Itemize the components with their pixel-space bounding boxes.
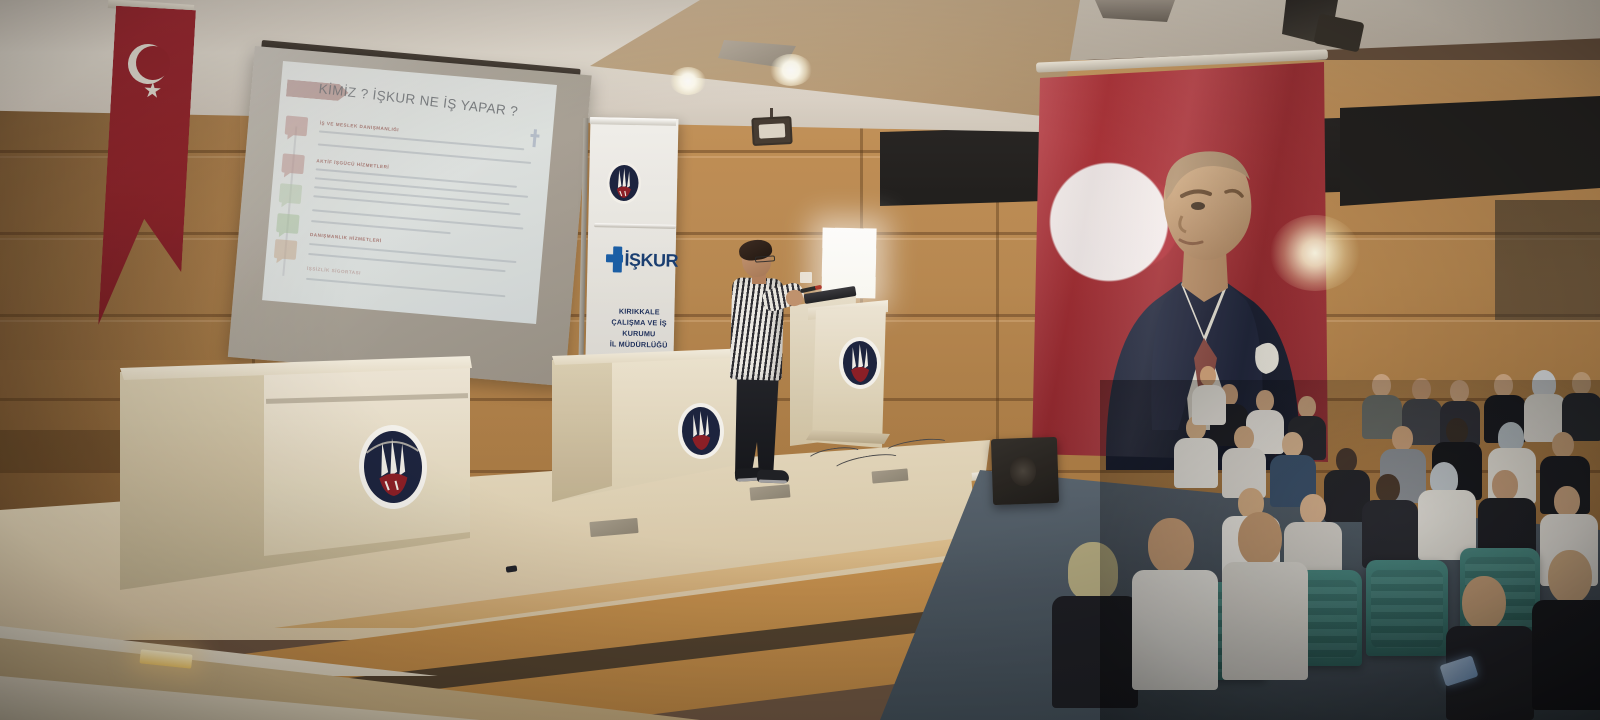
iskur-mark-icon <box>606 246 622 272</box>
institution-emblem-icon <box>606 160 643 207</box>
audience-area <box>1130 370 1600 720</box>
auditorium-photo: KİMİZ ? İŞKUR NE İŞ YAPAR ? İŞ VE MESLEK… <box>0 0 1600 720</box>
slide-section-label: İŞSİZLİK SİGORTASI <box>307 266 361 276</box>
slide-corner-mark-icon <box>529 129 543 148</box>
slide-section-label: AKTİF İŞGÜCÜ HİZMETLERİ <box>316 158 389 169</box>
ceiling-speaker-icon <box>751 116 792 146</box>
institution-emblem-icon <box>838 336 883 391</box>
banner-line-dept: İL MÜDÜRLÜĞÜ <box>596 339 682 352</box>
banner-line-org: ÇALIŞMA VE İŞ KURUMU <box>596 316 682 340</box>
slide-text-line <box>316 168 517 188</box>
slide-bullet-icon <box>279 183 303 204</box>
iskur-logo: İŞKUR <box>606 243 679 277</box>
wall-recess <box>1495 200 1600 320</box>
banner-office-text: KIRIKKALE ÇALIŞMA VE İŞ KURUMU İL MÜDÜRL… <box>596 305 683 351</box>
slide-canvas: KİMİZ ? İŞKUR NE İŞ YAPAR ? İŞ VE MESLEK… <box>262 61 557 324</box>
presenter-shoe <box>757 469 789 483</box>
slide-bullet-icon <box>285 115 309 136</box>
ceiling-downlight-icon <box>770 54 812 86</box>
acoustic-panel-right <box>1340 96 1600 206</box>
institution-emblem-icon <box>356 423 431 511</box>
slide-section-label: DANIŞMANLIK HİZMETLERİ <box>310 232 382 243</box>
slide-bullet-icon <box>274 239 298 260</box>
lamp-glare <box>1270 215 1360 291</box>
mid-desk-side <box>552 356 612 502</box>
institution-emblem-icon <box>676 401 726 461</box>
slide-bullet-icon <box>276 213 300 234</box>
slide-bullet-icon <box>281 153 305 174</box>
slide-title: KİMİZ ? İŞKUR NE İŞ YAPAR ? <box>318 81 548 122</box>
subwoofer-speaker <box>991 437 1059 505</box>
slide-text-line <box>306 278 505 298</box>
slide-text-line <box>314 186 509 205</box>
ceiling-downlight-icon <box>670 67 706 95</box>
slide-text-line <box>309 243 516 263</box>
slide-text-line <box>311 220 451 234</box>
auditorium-seat[interactable] <box>1366 560 1448 656</box>
iskur-wordmark: İŞKUR <box>624 251 678 270</box>
